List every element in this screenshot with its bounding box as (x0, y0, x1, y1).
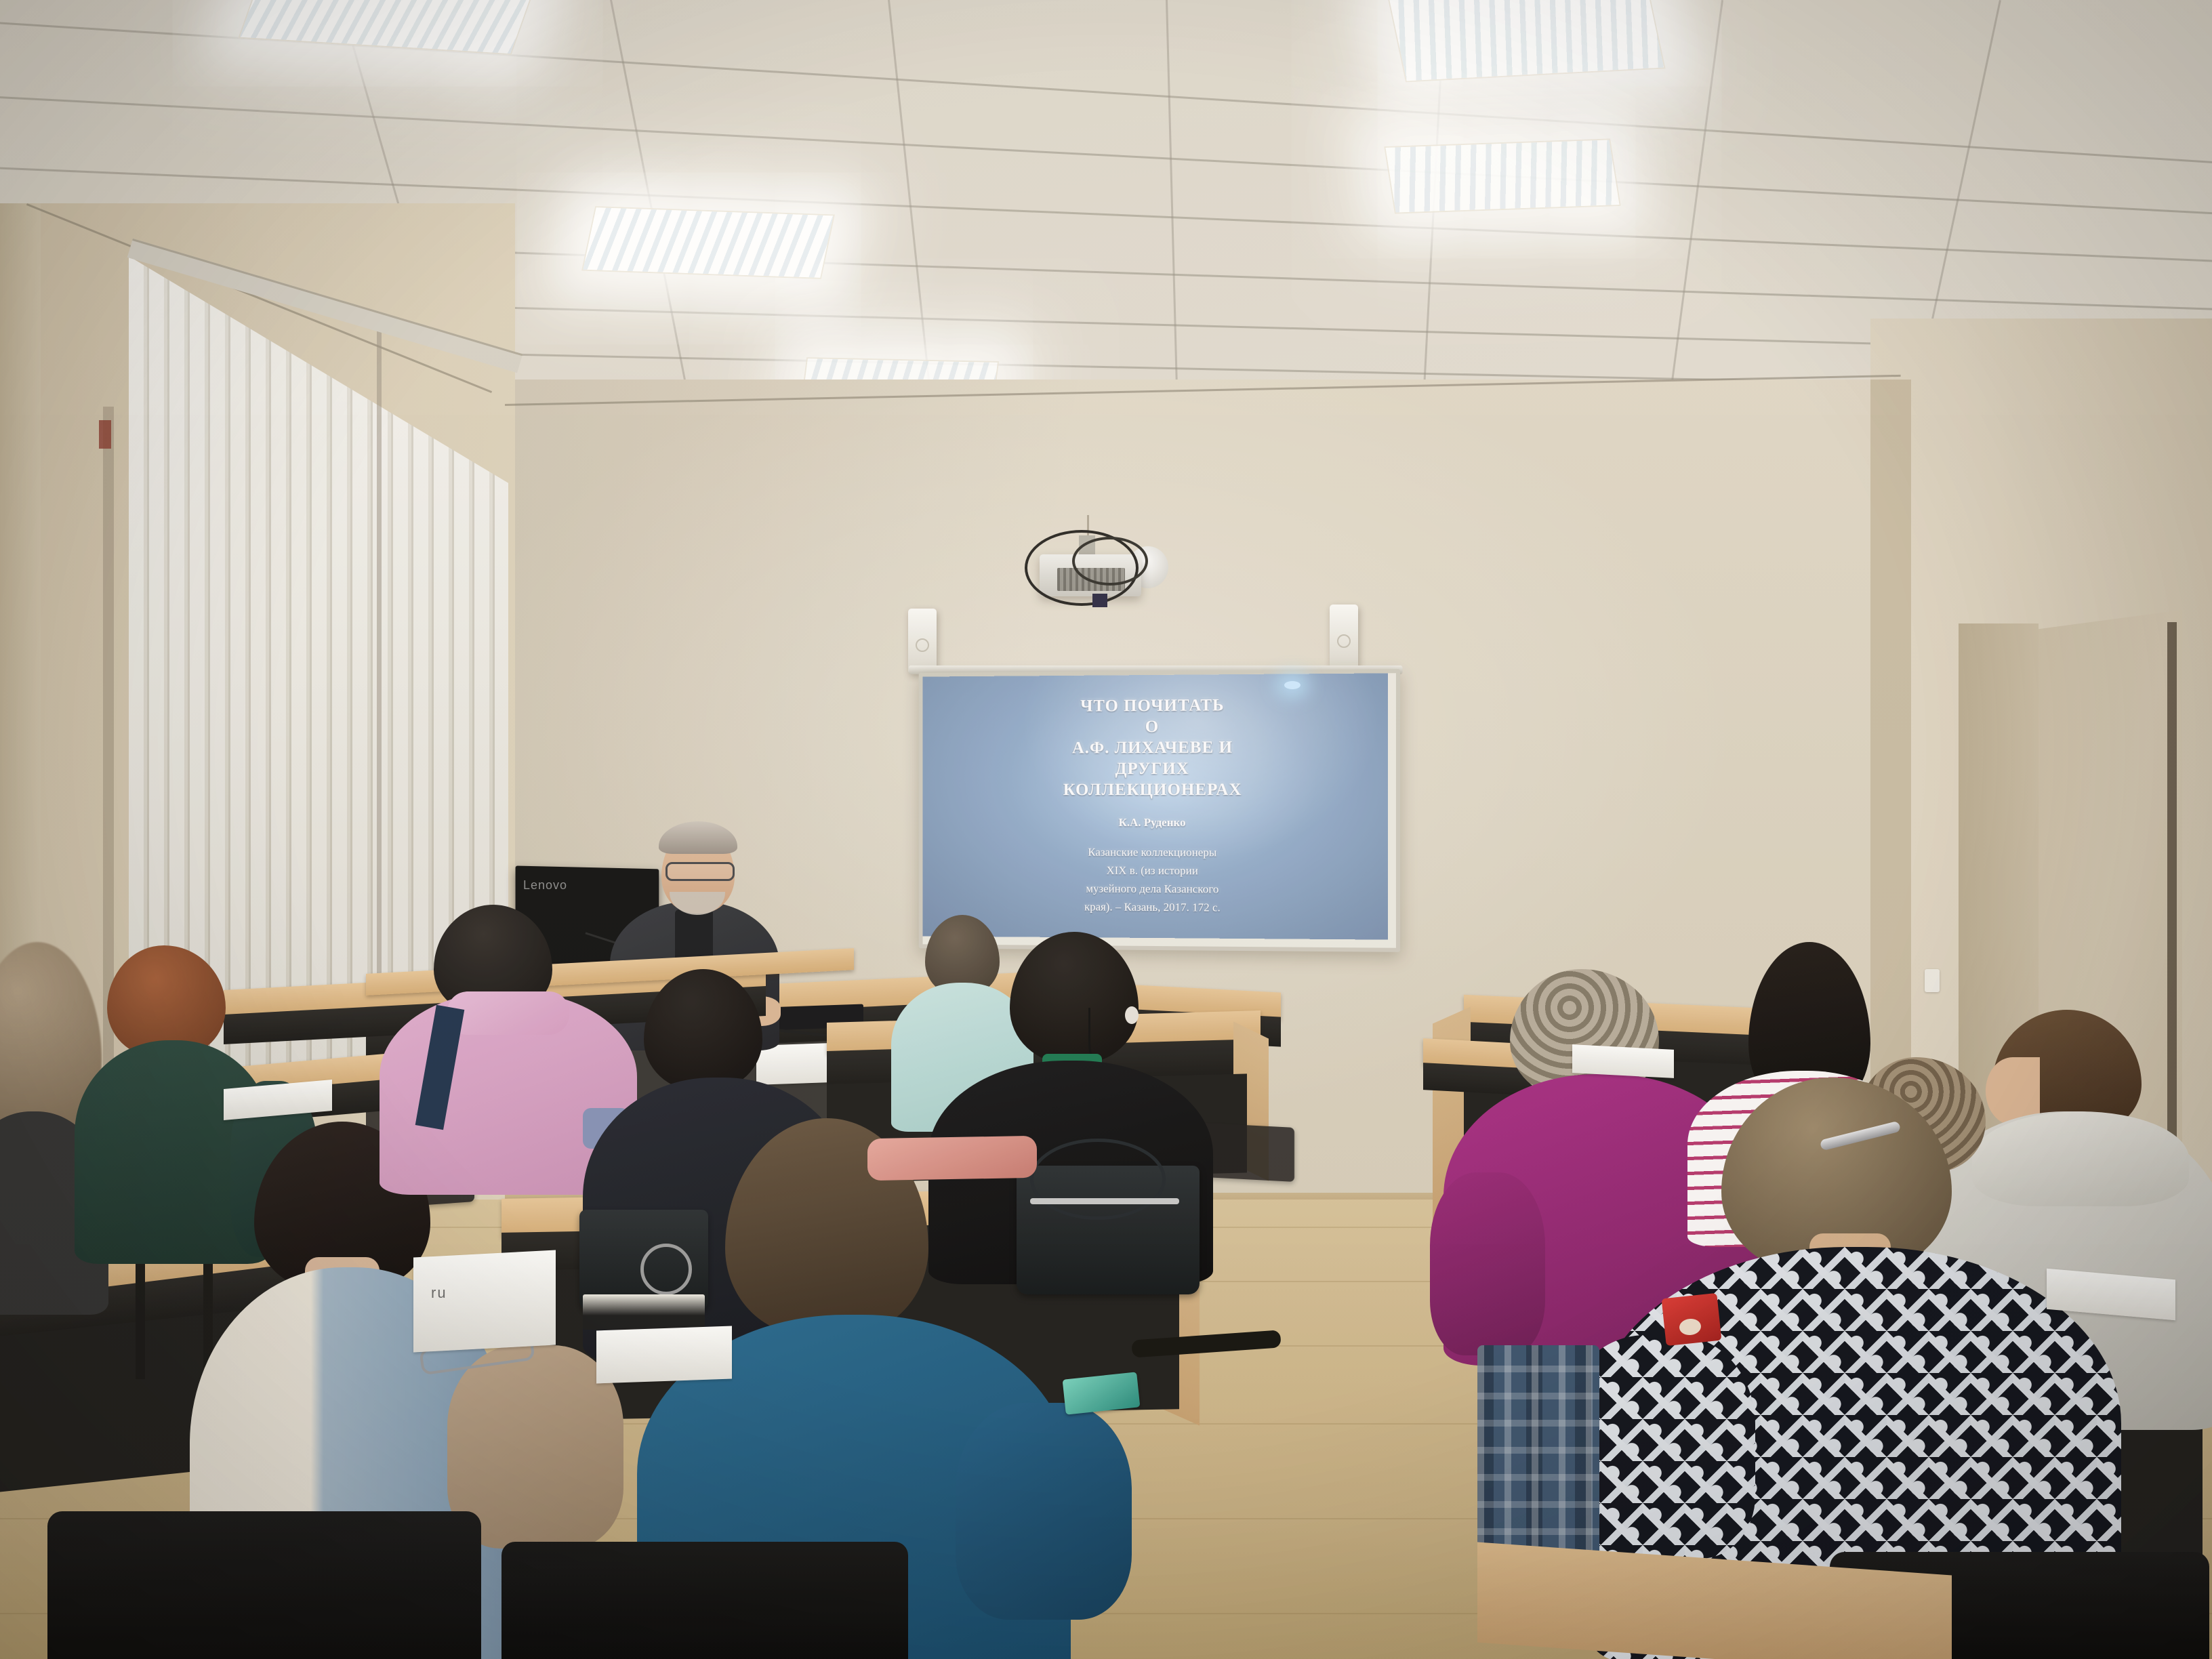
student-12-hood (1972, 1111, 2189, 1206)
chair-left-1-leg-2 (203, 1246, 213, 1368)
backpack-ring (640, 1244, 692, 1295)
slide-author: К.А. Руденко (922, 816, 1387, 830)
slide-title-line-5: КОЛЛЕКЦИОНЕРАХ (922, 779, 1387, 800)
lecturer-glasses (665, 862, 735, 881)
desk-paper-right[interactable] (1572, 1044, 1674, 1078)
projection-screen: ЧТО ПОЧИТАТЬ О А.Ф. ЛИХАЧЕВЕ И ДРУГИХ КО… (922, 673, 1387, 939)
speaker-cone-right (1337, 634, 1351, 648)
chair-foreground-center[interactable] (501, 1542, 908, 1659)
student-5-sleeve (956, 1403, 1132, 1620)
light-switch[interactable] (1925, 969, 1940, 992)
wall-speaker-right (1330, 605, 1358, 670)
handbag-zipper (1030, 1198, 1179, 1204)
slide-reference-line-3: музейного дела Казанского (922, 879, 1387, 899)
chair-foreground-left[interactable] (47, 1511, 481, 1659)
wall-speaker-left (908, 609, 937, 674)
slide-reference-line-1: Казанские коллекционеры (922, 842, 1387, 862)
monitor-brand-label: Lenovo (523, 878, 567, 893)
slide-title-line-1: ЧТО ПОЧИТАТЬ (922, 694, 1387, 718)
projector-hotspot (1284, 681, 1300, 689)
slide-title-line-3: А.Ф. ЛИХАЧЕВЕ И (922, 737, 1387, 759)
ceiling-light-right-far (1384, 138, 1621, 213)
slide-reference-line-2: XIX в. (из истории (922, 861, 1387, 881)
ceiling-light-top-right (1387, 0, 1665, 82)
ceiling-light-center (581, 206, 835, 279)
slide-title-line-4: ДРУГИХ (922, 758, 1387, 779)
notebook[interactable] (583, 1294, 705, 1330)
student-9-sleeve (1430, 1172, 1545, 1355)
slide-title-line-2: О (922, 715, 1387, 738)
chair-left-1-leg (136, 1250, 145, 1379)
pink-pencil-case[interactable] (867, 1136, 1037, 1181)
window-latch (99, 420, 111, 449)
speaker-cone-left (916, 638, 929, 652)
white-shopping-bag[interactable] (413, 1250, 556, 1352)
shopping-bag-text: ru (431, 1284, 546, 1298)
open-notebook-pages[interactable] (596, 1326, 732, 1384)
slide-reference-line-4: края). – Казань, 2017. 172 с. (922, 897, 1387, 918)
handbag-strap (1030, 1139, 1166, 1220)
student-1-scarf (447, 991, 569, 1035)
projector-plug (1092, 594, 1107, 607)
classroom-photo: ЧТО ПОЧИТАТЬ О А.Ф. ЛИХАЧЕВЕ И ДРУГИХ КО… (0, 0, 2212, 1659)
projector-cable-loop-2 (1072, 537, 1148, 586)
